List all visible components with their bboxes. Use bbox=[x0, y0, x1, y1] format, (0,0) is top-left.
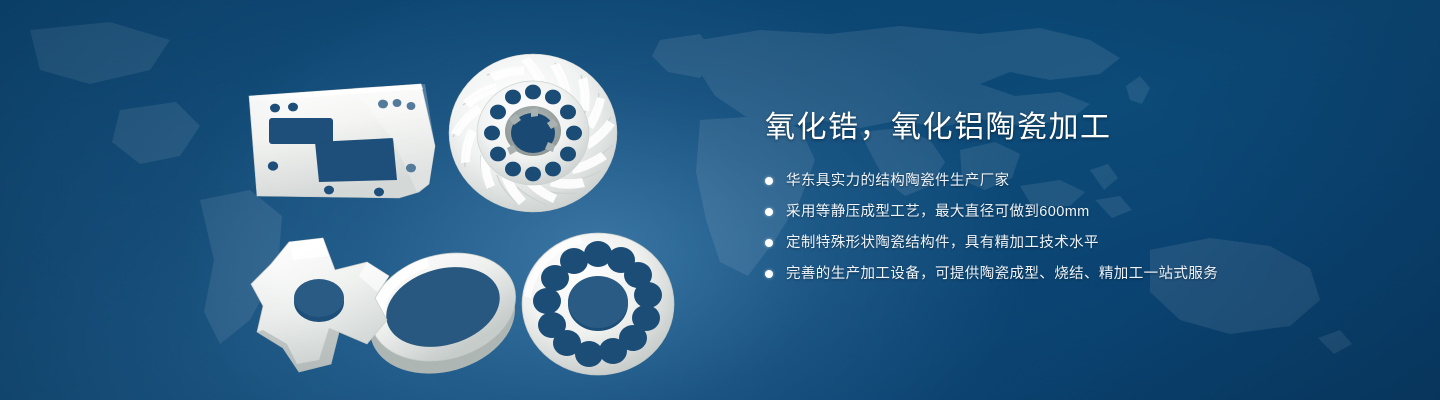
list-item-label: 华东具实力的结构陶瓷件生产厂家 bbox=[786, 170, 1010, 192]
banner-root: 氧化锆，氧化铝陶瓷加工 华东具实力的结构陶瓷件生产厂家 采用等静压成型工艺，最大… bbox=[0, 0, 1440, 400]
page-title: 氧化锆，氧化铝陶瓷加工 bbox=[765, 108, 1385, 148]
banner-copy: 氧化锆，氧化铝陶瓷加工 华东具实力的结构陶瓷件生产厂家 采用等静压成型工艺，最大… bbox=[765, 108, 1385, 294]
bullet-dot-icon bbox=[765, 270, 773, 278]
bullet-dot-icon bbox=[765, 208, 773, 216]
feature-list: 华东具实力的结构陶瓷件生产厂家 采用等静压成型工艺，最大直径可做到600mm 定… bbox=[765, 170, 1385, 285]
list-item: 定制特殊形状陶瓷结构件，具有精加工技术水平 bbox=[765, 232, 1385, 254]
list-item: 采用等静压成型工艺，最大直径可做到600mm bbox=[765, 201, 1385, 223]
ceramic-impeller bbox=[443, 45, 623, 225]
list-item: 华东具实力的结构陶瓷件生产厂家 bbox=[765, 170, 1385, 192]
list-item-label: 定制特殊形状陶瓷结构件，具有精加工技术水平 bbox=[786, 232, 1099, 254]
ceramic-plate bbox=[243, 80, 443, 205]
list-item-label: 完善的生产加工设备，可提供陶瓷成型、烧结、精加工一站式服务 bbox=[786, 263, 1218, 285]
product-photo-cluster bbox=[225, 40, 725, 385]
bullet-dot-icon bbox=[765, 239, 773, 247]
ceramic-hole-ring bbox=[519, 228, 679, 380]
bullet-dot-icon bbox=[765, 177, 773, 185]
ceramic-cross-part bbox=[243, 232, 413, 382]
list-item-label: 采用等静压成型工艺，最大直径可做到600mm bbox=[786, 201, 1090, 223]
list-item: 完善的生产加工设备，可提供陶瓷成型、烧结、精加工一站式服务 bbox=[765, 263, 1385, 285]
